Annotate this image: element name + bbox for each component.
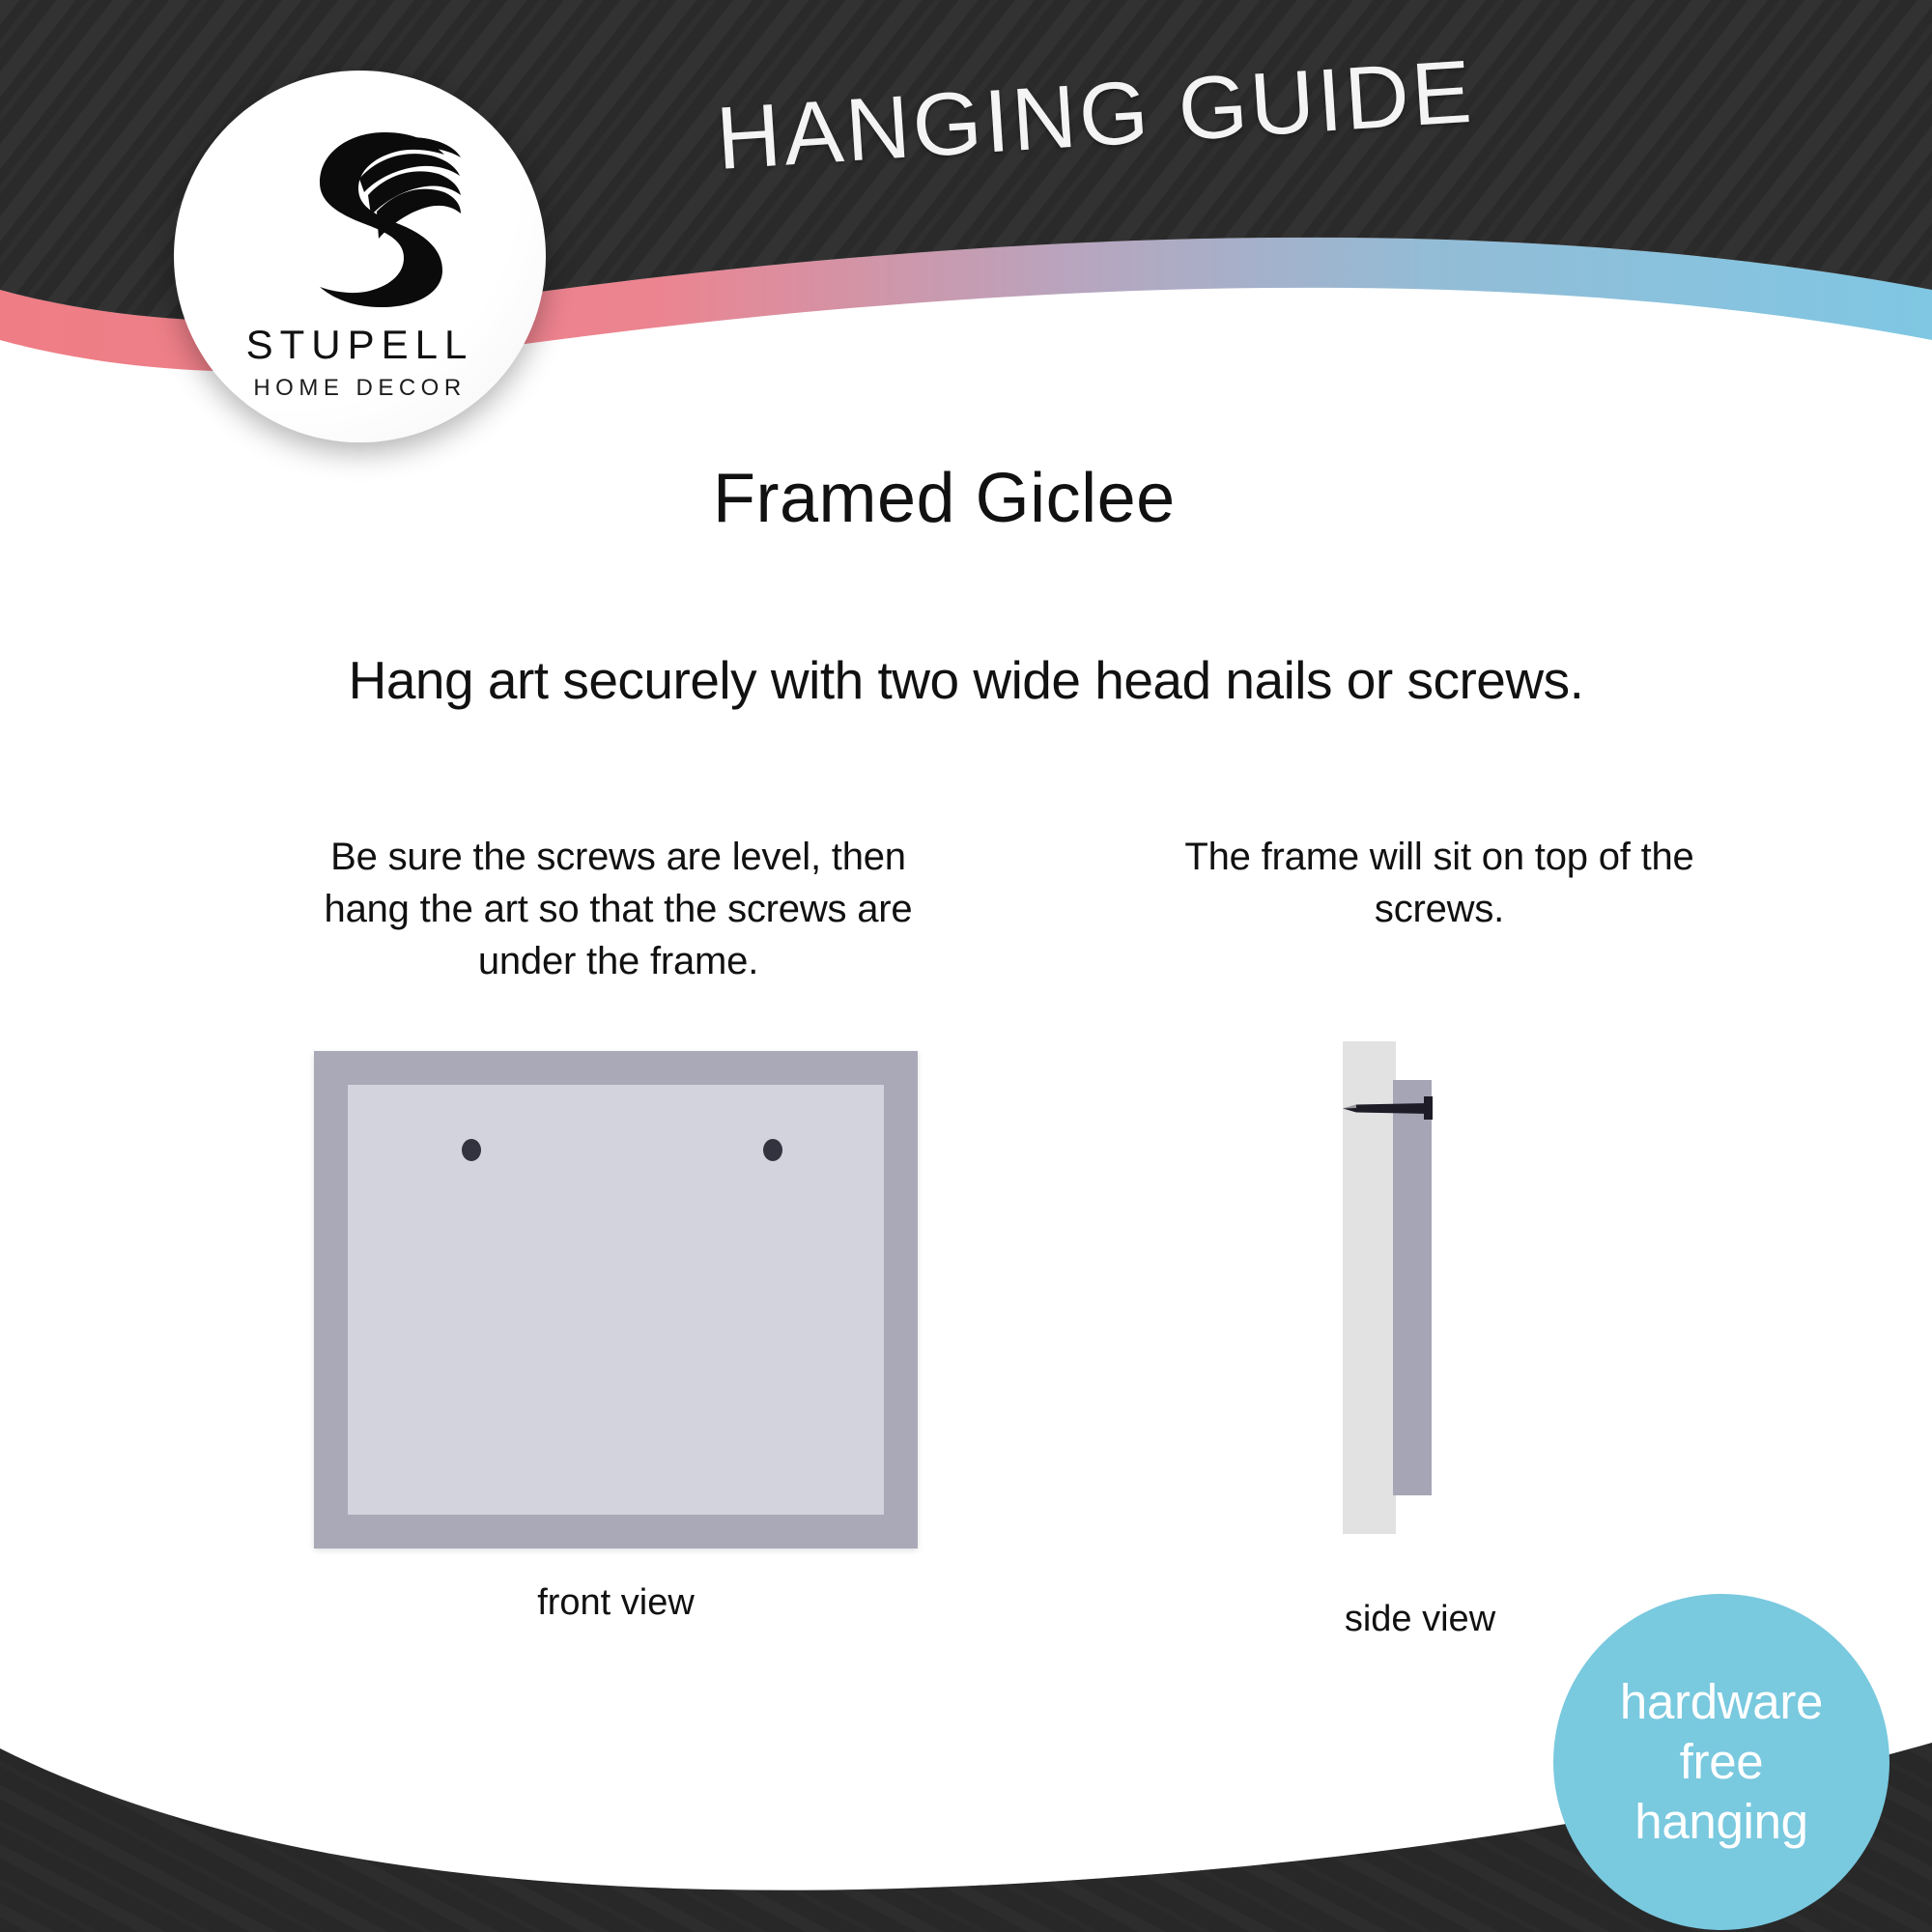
front-view-mat <box>348 1085 884 1515</box>
hardware-free-badge: hardware free hanging <box>1553 1594 1889 1930</box>
front-view-caption: Be sure the screws are level, then hang … <box>309 831 927 987</box>
screw-hole-right <box>763 1139 782 1161</box>
side-view-column: The frame will sit on top of the screws. <box>1101 831 1777 935</box>
screw-hole-left <box>462 1139 481 1161</box>
side-view-frame <box>1393 1080 1432 1495</box>
brand-tagline: HOME DECOR <box>253 377 466 400</box>
stupell-swirl-icon <box>259 113 462 311</box>
badge-line-2: free <box>1680 1732 1764 1792</box>
brand-name: STUPELL <box>246 325 474 365</box>
front-view-column: Be sure the screws are level, then hang … <box>193 831 1043 987</box>
front-view-diagram <box>314 1051 918 1548</box>
lead-instruction: Hang art securely with two wide head nai… <box>0 649 1932 711</box>
nail-icon <box>1341 1090 1445 1124</box>
hanging-guide-page: HANGING GUIDE STUPELL HOME DECOR Framed … <box>0 0 1932 1932</box>
badge-line-3: hanging <box>1634 1792 1807 1852</box>
side-view-caption: The frame will sit on top of the screws. <box>1169 831 1710 935</box>
badge-line-1: hardware <box>1620 1672 1823 1732</box>
front-view-label: front view <box>314 1582 918 1624</box>
product-type-heading: Framed Giclee <box>713 459 1176 538</box>
brand-logo-badge: STUPELL HOME DECOR <box>174 71 546 442</box>
page-title: HANGING GUIDE <box>714 42 1477 190</box>
